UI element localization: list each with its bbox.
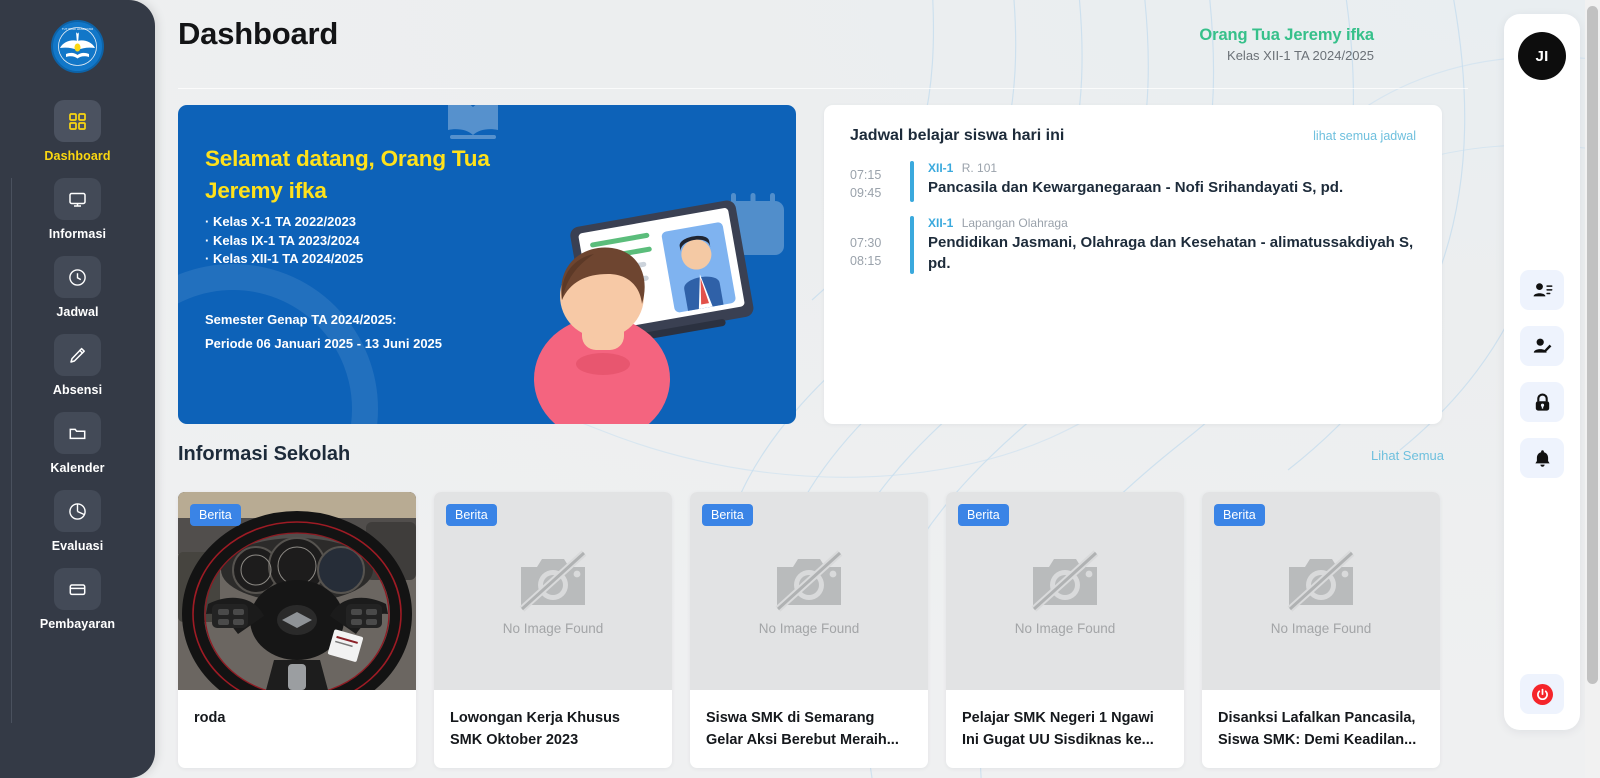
piechart-icon — [54, 490, 101, 532]
logout-button[interactable] — [1520, 674, 1564, 714]
news-card-title: Siswa SMK di Semarang Gelar Aksi Berebut… — [690, 690, 928, 768]
today-schedule-card: Jadwal belajar siswa hari ini lihat semu… — [824, 105, 1442, 424]
news-section-title: Informasi Sekolah — [178, 443, 350, 466]
no-image-icon — [769, 547, 849, 615]
news-badge: Berita — [190, 504, 241, 526]
schedule-entry-time: 07:15 09:45 — [850, 161, 910, 202]
schedule-entry[interactable]: 07:15 09:45 XII-1 R. 101 Pancasila dan K… — [850, 161, 1416, 202]
news-thumbnail: Berita No Image Found — [1202, 492, 1440, 690]
schedule-time-start: 07:30 — [850, 234, 910, 252]
schedule-subject: Pancasila dan Kewarganegaraan - Nofi Sri… — [928, 178, 1416, 198]
header-divider — [178, 88, 1468, 89]
news-card-title: roda — [178, 690, 416, 746]
svg-text:TUT WURI HANDAYANI: TUT WURI HANDAYANI — [62, 27, 94, 31]
sidebar-item-label: Kalender — [50, 461, 104, 475]
sidebar-item-informasi[interactable]: Informasi — [0, 178, 155, 241]
sidebar-item-jadwal[interactable]: Jadwal — [0, 256, 155, 319]
user-meta: Orang Tua Jeremy ifka Kelas XII-1 TA 202… — [1199, 26, 1374, 63]
view-all-news-link[interactable]: Lihat Semua — [1371, 448, 1444, 463]
contact-card-icon — [1532, 280, 1553, 301]
no-image-text: No Image Found — [1015, 621, 1116, 636]
news-card-title: Disanksi Lafalkan Pancasila, Siswa SMK: … — [1202, 690, 1440, 768]
change-password-button[interactable] — [1520, 382, 1564, 422]
sidebar-item-label: Pembayaran — [40, 617, 115, 631]
news-card-title: Pelajar SMK Negeri 1 Ngawi Ini Gugat UU … — [946, 690, 1184, 768]
folder-icon — [54, 412, 101, 454]
news-badge: Berita — [702, 504, 753, 526]
scrollbar-thumb[interactable] — [1587, 6, 1598, 684]
user-class: Kelas XII-1 TA 2024/2025 — [1199, 48, 1374, 63]
grid-icon — [54, 100, 101, 142]
sidebar-item-dashboard[interactable]: Dashboard — [0, 100, 155, 163]
news-badge: Berita — [446, 504, 497, 526]
news-thumbnail: Berita — [178, 492, 416, 690]
sidebar-item-label: Evaluasi — [52, 539, 104, 553]
schedule-entry[interactable]: 07:30 08:15 XII-1 Lapangan Olahraga Pend… — [850, 216, 1416, 274]
news-thumbnail: Berita No Image Found — [946, 492, 1184, 690]
news-grid: Berita roda Berita No Image Foun — [178, 492, 1440, 768]
no-image-text: No Image Found — [503, 621, 604, 636]
edit-profile-button[interactable] — [1520, 326, 1564, 366]
welcome-class-list: · Kelas X-1 TA 2022/2023 · Kelas IX-1 TA… — [205, 213, 363, 269]
schedule-title: Jadwal belajar siswa hari ini — [850, 127, 1064, 145]
sidebar-rail-line — [11, 178, 12, 723]
schedule-class: XII-1 — [928, 216, 953, 230]
news-card[interactable]: Berita No Image Found Disanksi Lafalkan … — [1202, 492, 1440, 768]
news-badge: Berita — [958, 504, 1009, 526]
no-image-icon — [513, 547, 593, 615]
news-section-header: Informasi Sekolah Lihat Semua — [178, 443, 1444, 466]
user-name: Orang Tua Jeremy ifka — [1199, 26, 1374, 45]
page-header: Dashboard Orang Tua Jeremy ifka Kelas XI… — [178, 16, 1500, 86]
schedule-accent-bar — [910, 216, 914, 274]
notifications-button[interactable] — [1520, 438, 1564, 478]
school-logo[interactable]: TUT WURI HANDAYANI — [0, 0, 155, 92]
schedule-entry-meta: XII-1 R. 101 — [928, 161, 1416, 175]
news-thumbnail: Berita No Image Found — [434, 492, 672, 690]
schedule-room: R. 101 — [962, 161, 997, 175]
tut-wuri-handayani-logo-icon: TUT WURI HANDAYANI — [51, 20, 104, 73]
schedule-entry-meta: XII-1 Lapangan Olahraga — [928, 216, 1416, 230]
lock-icon — [1532, 392, 1553, 413]
news-card[interactable]: Berita No Image Found Pelajar SMK Negeri… — [946, 492, 1184, 768]
no-image-text: No Image Found — [1271, 621, 1372, 636]
book-decoration-icon — [444, 105, 502, 143]
schedule-room: Lapangan Olahraga — [962, 216, 1068, 230]
avatar[interactable]: JI — [1518, 32, 1566, 80]
sidebar-nav: Dashboard Informasi — [0, 92, 155, 631]
right-action-rail: JI — [1504, 14, 1580, 730]
power-icon — [1532, 684, 1553, 705]
rail-button-group — [1520, 270, 1564, 494]
no-image-icon — [1025, 547, 1105, 615]
no-image-text: No Image Found — [759, 621, 860, 636]
sidebar-item-label: Dashboard — [44, 149, 110, 163]
schedule-entry-time: 07:30 08:15 — [850, 216, 910, 274]
schedule-entry-body: XII-1 Lapangan Olahraga Pendidikan Jasma… — [928, 216, 1416, 274]
no-image-icon — [1281, 547, 1361, 615]
pencil-icon — [54, 334, 101, 376]
user-edit-icon — [1532, 336, 1553, 357]
clock-icon — [54, 256, 101, 298]
schedule-accent-bar — [910, 161, 914, 202]
news-card[interactable]: Berita No Image Found Siswa SMK di Semar… — [690, 492, 928, 768]
news-card-title: Lowongan Kerja Khusus SMK Oktober 2023 — [434, 690, 672, 768]
wallet-icon — [54, 568, 101, 610]
schedule-time-start: 07:15 — [850, 166, 910, 184]
schedule-class: XII-1 — [928, 161, 953, 175]
bell-icon — [1532, 448, 1553, 469]
schedule-list: 07:15 09:45 XII-1 R. 101 Pancasila dan K… — [824, 145, 1442, 274]
welcome-semester-period: Semester Genap TA 2024/2025: Periode 06 … — [205, 308, 442, 356]
welcome-banner: Selamat datang, Orang Tua Jeremy ifka · … — [178, 105, 796, 424]
profile-button[interactable] — [1520, 270, 1564, 310]
sidebar-item-kalender[interactable]: Kalender — [0, 412, 155, 475]
news-thumbnail: Berita No Image Found — [690, 492, 928, 690]
sidebar-item-absensi[interactable]: Absensi — [0, 334, 155, 397]
schedule-entry-body: XII-1 R. 101 Pancasila dan Kewarganegara… — [928, 161, 1416, 202]
schedule-time-end: 08:15 — [850, 252, 910, 270]
dashboard-page: TUT WURI HANDAYANI Dashboard — [0, 0, 1600, 778]
monitor-icon — [54, 178, 101, 220]
sidebar-item-label: Absensi — [53, 383, 102, 397]
news-card[interactable]: Berita No Image Found Lowongan Kerja Khu… — [434, 492, 672, 768]
schedule-subject: Pendidikan Jasmani, Olahraga dan Kesehat… — [928, 233, 1416, 274]
welcome-title: Selamat datang, Orang Tua Jeremy ifka — [205, 143, 535, 207]
student-illustration — [490, 174, 790, 424]
sidebar: TUT WURI HANDAYANI Dashboard — [0, 0, 155, 778]
sidebar-item-pembayaran[interactable]: Pembayaran — [0, 568, 155, 631]
news-card[interactable]: Berita roda — [178, 492, 416, 768]
sidebar-item-label: Jadwal — [56, 305, 98, 319]
schedule-time-end: 09:45 — [850, 184, 910, 202]
sidebar-item-label: Informasi — [49, 227, 106, 241]
news-badge: Berita — [1214, 504, 1265, 526]
sidebar-item-evaluasi[interactable]: Evaluasi — [0, 490, 155, 553]
view-all-schedule-link[interactable]: lihat semua jadwal — [1313, 129, 1416, 143]
schedule-header: Jadwal belajar siswa hari ini lihat semu… — [824, 105, 1442, 145]
